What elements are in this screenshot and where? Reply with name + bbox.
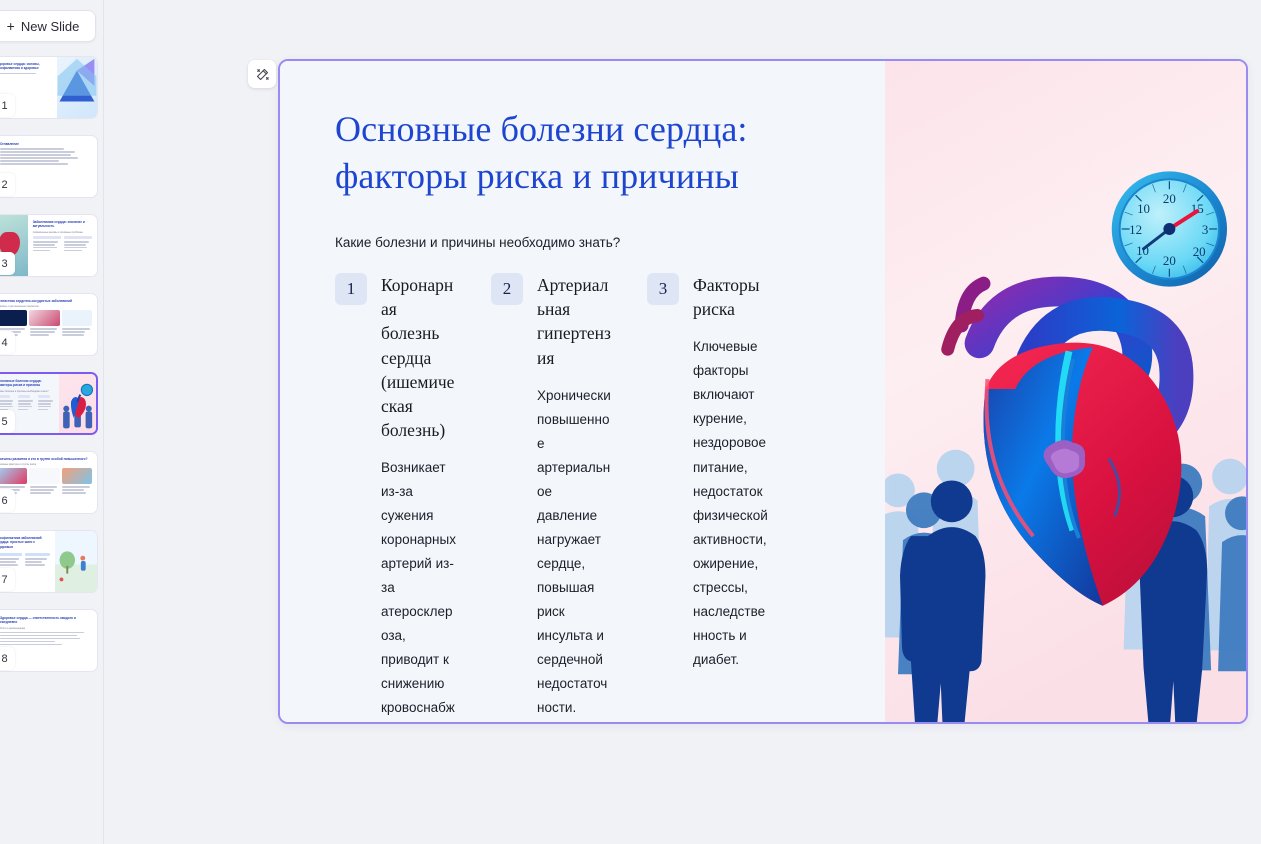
thumb-number: 3 bbox=[0, 252, 15, 275]
thumb-line bbox=[0, 148, 64, 149]
column-number-badge: 2 bbox=[491, 273, 523, 305]
magic-wand-button[interactable] bbox=[248, 60, 276, 88]
new-slide-label: New Slide bbox=[21, 19, 80, 34]
thumb-number: 1 bbox=[0, 94, 15, 117]
column-body-text: Возникает из-за сужения коронарных артер… bbox=[381, 456, 456, 724]
thumb-subtitle: Какие болезни и причины необходимо знать… bbox=[0, 390, 55, 393]
new-slide-button[interactable]: + New Slide bbox=[0, 10, 96, 42]
slide-thumbnail-4[interactable]: Статистика сердечно-сосудистых заболеван… bbox=[0, 293, 98, 356]
slide-thumbnail-6[interactable]: Причины развития и кто в группе особой п… bbox=[0, 451, 98, 514]
column-header: 2 Артериальная гипертензия bbox=[491, 273, 612, 370]
thumb-number: 8 bbox=[0, 647, 15, 670]
magic-wand-icon bbox=[255, 67, 270, 82]
gauge-tick-3: 3 bbox=[1202, 222, 1208, 237]
gauge-tick-12: 12 bbox=[1129, 222, 1142, 237]
slide-column-2: 2 Артериальная гипертензия Хронически по… bbox=[491, 273, 612, 724]
heart-pressure-gauge-crowd-illustration: 20 10 15 12 3 10 20 20 bbox=[885, 61, 1246, 722]
column-header: 1 Коронарная болезнь сердца (ишемическая… bbox=[335, 273, 456, 442]
thumb-line bbox=[0, 73, 36, 74]
thumb-number: 7 bbox=[0, 568, 15, 591]
slide-canvas: Основные болезни сердца: факторы риска и… bbox=[104, 0, 1261, 844]
thumb-number: 6 bbox=[0, 489, 15, 512]
column-body-text: Ключевые факторы включают курение, нездо… bbox=[693, 335, 768, 671]
slide-columns: 1 Коронарная болезнь сердца (ишемическая… bbox=[335, 273, 849, 724]
thumb-card bbox=[62, 468, 92, 484]
thumb-line bbox=[0, 154, 71, 155]
slide-content-panel: Основные болезни сердца: факторы риска и… bbox=[280, 61, 885, 722]
thumb-subtitle: Мировые и региональные показатели bbox=[0, 305, 92, 308]
thumb-card bbox=[62, 310, 92, 326]
thumb-subtitle: Итоги и рекомендации bbox=[0, 627, 89, 630]
column-number-badge: 3 bbox=[647, 273, 679, 305]
thumb-line bbox=[0, 151, 75, 152]
thumb-title: Заболевания сердца: значение и актуально… bbox=[33, 220, 92, 229]
slide-column-3: 3 Факторы риска Ключевые факторы включаю… bbox=[647, 273, 768, 724]
thumb-subtitle: Современные вызовы и основные проблемы bbox=[33, 231, 92, 234]
slide-navigator-sidebar: + New Slide Здоровье сердца: основы, про… bbox=[0, 0, 104, 844]
thumb-subtitle: Основные факторы и группы риска bbox=[0, 463, 92, 466]
thumb-card bbox=[29, 468, 59, 484]
slide-thumbnail-2[interactable]: Оглавление 2 bbox=[0, 135, 98, 198]
thumb-image bbox=[59, 374, 96, 433]
column-header: 3 Факторы риска bbox=[647, 273, 768, 321]
column-heading: Коронарная болезнь сердца (ишемическая б… bbox=[381, 273, 456, 442]
thumb-title: Профилактика заболеваний сердца: простые… bbox=[0, 536, 50, 549]
column-body-text: Хронически повышенное артериальное давле… bbox=[537, 384, 612, 720]
slide-thumbnail-1[interactable]: Здоровье сердца: основы, профилактика и … bbox=[0, 56, 98, 119]
slide-image-heart-illustration: 20 10 15 12 3 10 20 20 bbox=[885, 61, 1246, 722]
thumb-graphic bbox=[57, 57, 97, 118]
thumb-title: Здоровье сердца — ответственность каждог… bbox=[0, 616, 89, 625]
active-slide[interactable]: Основные болезни сердца: факторы риска и… bbox=[278, 59, 1248, 724]
thumb-title: Основные болезни сердца: факторы риска и… bbox=[0, 379, 55, 388]
pressure-gauge: 20 10 15 12 3 10 20 20 bbox=[1112, 171, 1227, 286]
thumb-title: Здоровье сердца: основы, профилактика и … bbox=[0, 62, 53, 71]
thumb-title: Оглавление bbox=[0, 142, 89, 146]
column-heading: Факторы риска bbox=[693, 273, 768, 321]
gauge-tick-20c: 20 bbox=[1163, 253, 1176, 268]
thumb-line bbox=[0, 163, 68, 164]
thumb-card bbox=[0, 468, 27, 484]
slide-thumbnail-5[interactable]: Основные болезни сердца: факторы риска и… bbox=[0, 372, 98, 435]
slide-title: Основные болезни сердца: факторы риска и… bbox=[335, 106, 849, 200]
column-heading: Артериальная гипертензия bbox=[537, 273, 612, 370]
slide-thumbnail-8[interactable]: Здоровье сердца — ответственность каждог… bbox=[0, 609, 98, 672]
gauge-tick-10a: 10 bbox=[1137, 201, 1150, 216]
thumb-number: 4 bbox=[0, 331, 15, 354]
thumb-title: Статистика сердечно-сосудистых заболеван… bbox=[0, 299, 92, 303]
thumb-title: Причины развития и кто в группе особой п… bbox=[0, 457, 92, 461]
column-number-badge: 1 bbox=[335, 273, 367, 305]
slide-subtitle: Какие болезни и причины необходимо знать… bbox=[335, 234, 849, 252]
slide-thumbnail-list[interactable]: Здоровье сердца: основы, профилактика и … bbox=[0, 56, 104, 844]
slide-thumbnail-3[interactable]: Заболевания сердца: значение и актуально… bbox=[0, 214, 98, 277]
thumb-card bbox=[29, 310, 59, 326]
thumb-number: 5 bbox=[0, 410, 15, 433]
slide-thumbnail-7[interactable]: Профилактика заболеваний сердца: простые… bbox=[0, 530, 98, 593]
gauge-tick-20a: 20 bbox=[1163, 191, 1176, 206]
thumb-number: 2 bbox=[0, 173, 15, 196]
slide-column-1: 1 Коронарная болезнь сердца (ишемическая… bbox=[335, 273, 456, 724]
thumb-line bbox=[0, 160, 59, 161]
thumb-card bbox=[0, 310, 27, 326]
thumb-illustration bbox=[55, 531, 97, 592]
gauge-tick-20b: 20 bbox=[1193, 244, 1206, 259]
thumb-line bbox=[0, 157, 78, 158]
plus-icon: + bbox=[7, 19, 15, 33]
